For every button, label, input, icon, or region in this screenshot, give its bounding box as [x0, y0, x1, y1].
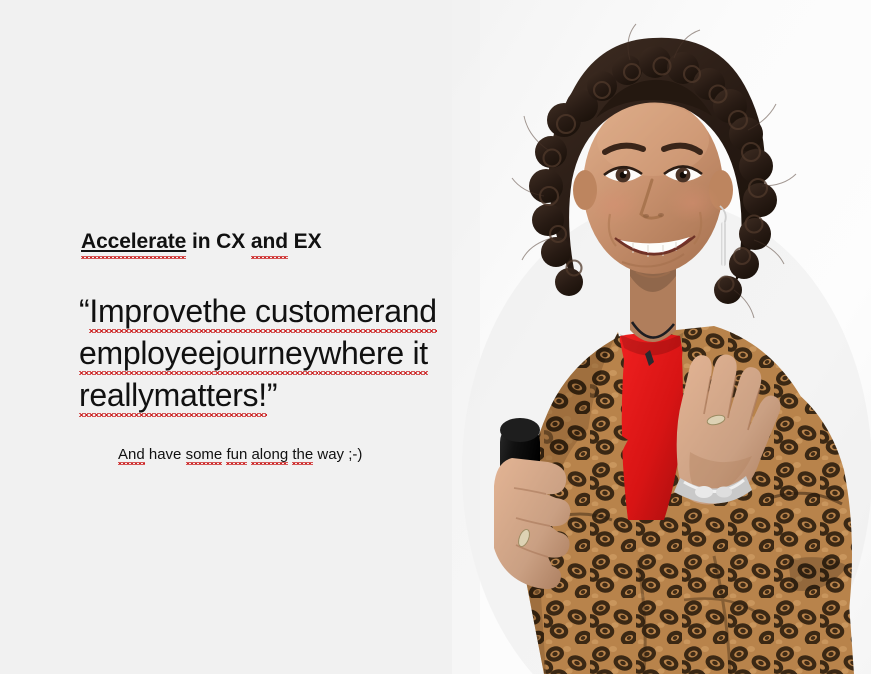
quote-phrase-where-it: where it	[318, 332, 428, 374]
presenter-photo-illustration	[452, 0, 871, 674]
subline-way: way ;-)	[313, 446, 362, 463]
heading-and: and	[251, 230, 288, 254]
subline-the: the	[292, 446, 313, 463]
heading-rest-after: EX	[288, 230, 322, 253]
quote-open-mark: “	[79, 293, 89, 329]
subline-have: have	[145, 446, 186, 463]
slide-text-block: Accelerate in CX and EX “Improve the cus…	[0, 0, 452, 674]
subline-fun: fun	[226, 446, 247, 463]
quote-word-improve: Improve	[89, 290, 203, 332]
quote-word-really: really	[79, 374, 154, 416]
slide-subline: And have some fun along the way ;-)	[118, 446, 362, 463]
quote-word-and: and	[384, 290, 437, 332]
heading-emphasis: Accelerate	[81, 230, 186, 254]
quote-word-journey: journey	[215, 332, 318, 374]
heading-rest-before: in CX	[186, 230, 251, 253]
quote-line-2: employee journey where it	[79, 332, 489, 374]
quote-phrase-the-customer: the customer	[203, 290, 384, 332]
quote-line-3: really matters!”	[79, 374, 489, 416]
quote-line-1: “Improve the customer and	[79, 290, 489, 332]
presentation-slide: Accelerate in CX and EX “Improve the cus…	[0, 0, 871, 674]
quote-close-mark: ”	[267, 377, 277, 413]
subline-some: some	[186, 446, 223, 463]
subline-and: And	[118, 446, 145, 463]
slide-heading: Accelerate in CX and EX	[81, 230, 322, 254]
presenter-photo	[452, 0, 871, 674]
quote-word-employee: employee	[79, 332, 215, 374]
subline-along: along	[251, 446, 288, 463]
quote-phrase-matters: matters!	[154, 374, 267, 416]
slide-quote: “Improve the customer and employee journ…	[79, 290, 489, 416]
